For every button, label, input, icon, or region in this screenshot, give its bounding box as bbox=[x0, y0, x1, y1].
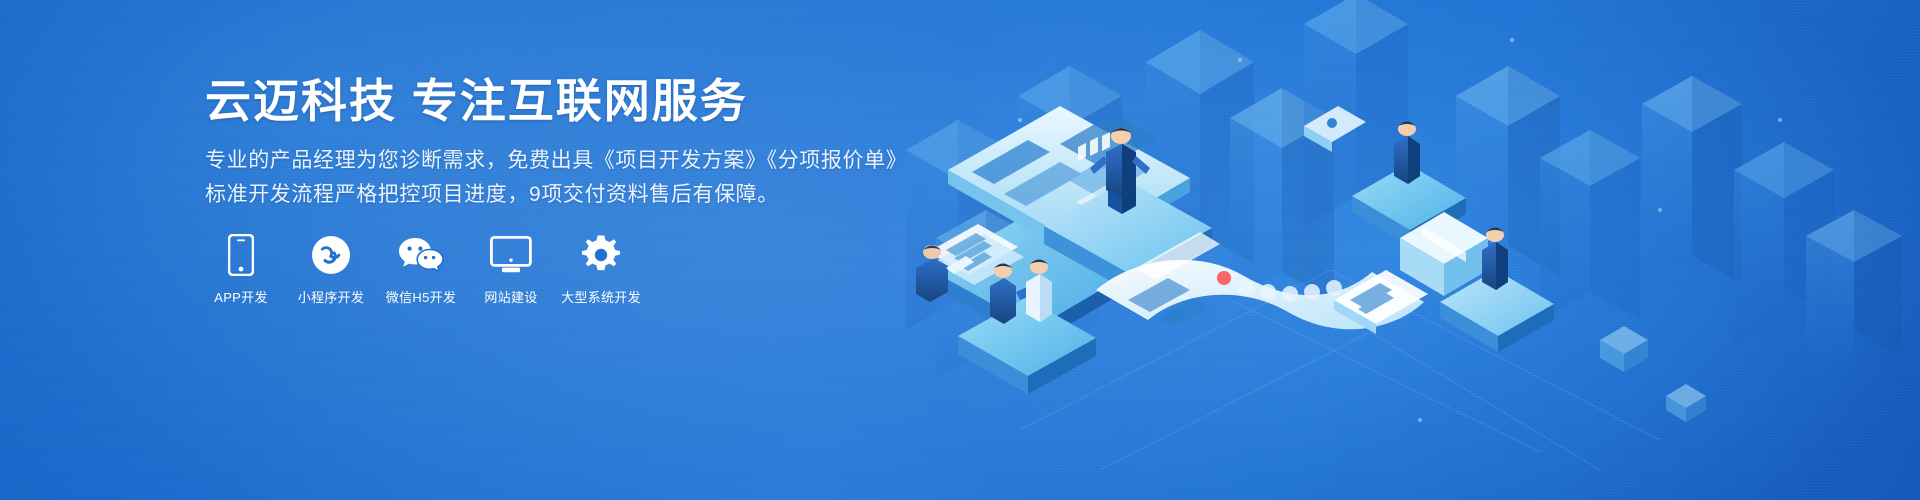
subtitle-line-2: 标准开发流程严格把控项目进度，9项交付资料售后有保障。 bbox=[205, 179, 779, 212]
wechat-icon bbox=[395, 232, 447, 278]
monitor-icon bbox=[485, 232, 537, 278]
page-title: 云迈科技 专注互联网服务 bbox=[205, 74, 748, 129]
hero-banner: 云迈科技 专注互联网服务 专业的产品经理为您诊断需求，免费出具《项目开发方案》《… bbox=[0, 0, 1920, 500]
service-item-website[interactable]: 网站建设 bbox=[475, 232, 547, 306]
subtitle-line-1: 专业的产品经理为您诊断需求，免费出具《项目开发方案》《分项报价单》 bbox=[205, 145, 907, 178]
service-label: APP开发 bbox=[214, 287, 268, 306]
banner-content: 云迈科技 专注互联网服务 专业的产品经理为您诊断需求，免费出具《项目开发方案》《… bbox=[205, 0, 965, 500]
hero-illustration bbox=[900, 0, 1920, 500]
service-label: 微信H5开发 bbox=[386, 287, 456, 306]
service-label: 大型系统开发 bbox=[561, 287, 641, 306]
service-label: 小程序开发 bbox=[298, 287, 365, 306]
service-item-app[interactable]: APP开发 bbox=[205, 232, 277, 306]
service-item-miniprogram[interactable]: 小程序开发 bbox=[295, 232, 367, 306]
service-item-system[interactable]: 大型系统开发 bbox=[565, 232, 637, 306]
mobile-phone-icon bbox=[215, 232, 267, 278]
service-item-wechat[interactable]: 微信H5开发 bbox=[385, 232, 457, 306]
mini-program-icon bbox=[305, 232, 357, 278]
gear-icon bbox=[575, 232, 627, 278]
service-label: 网站建设 bbox=[484, 287, 537, 306]
service-list: APP开发 小程序开发 bbox=[205, 232, 655, 306]
